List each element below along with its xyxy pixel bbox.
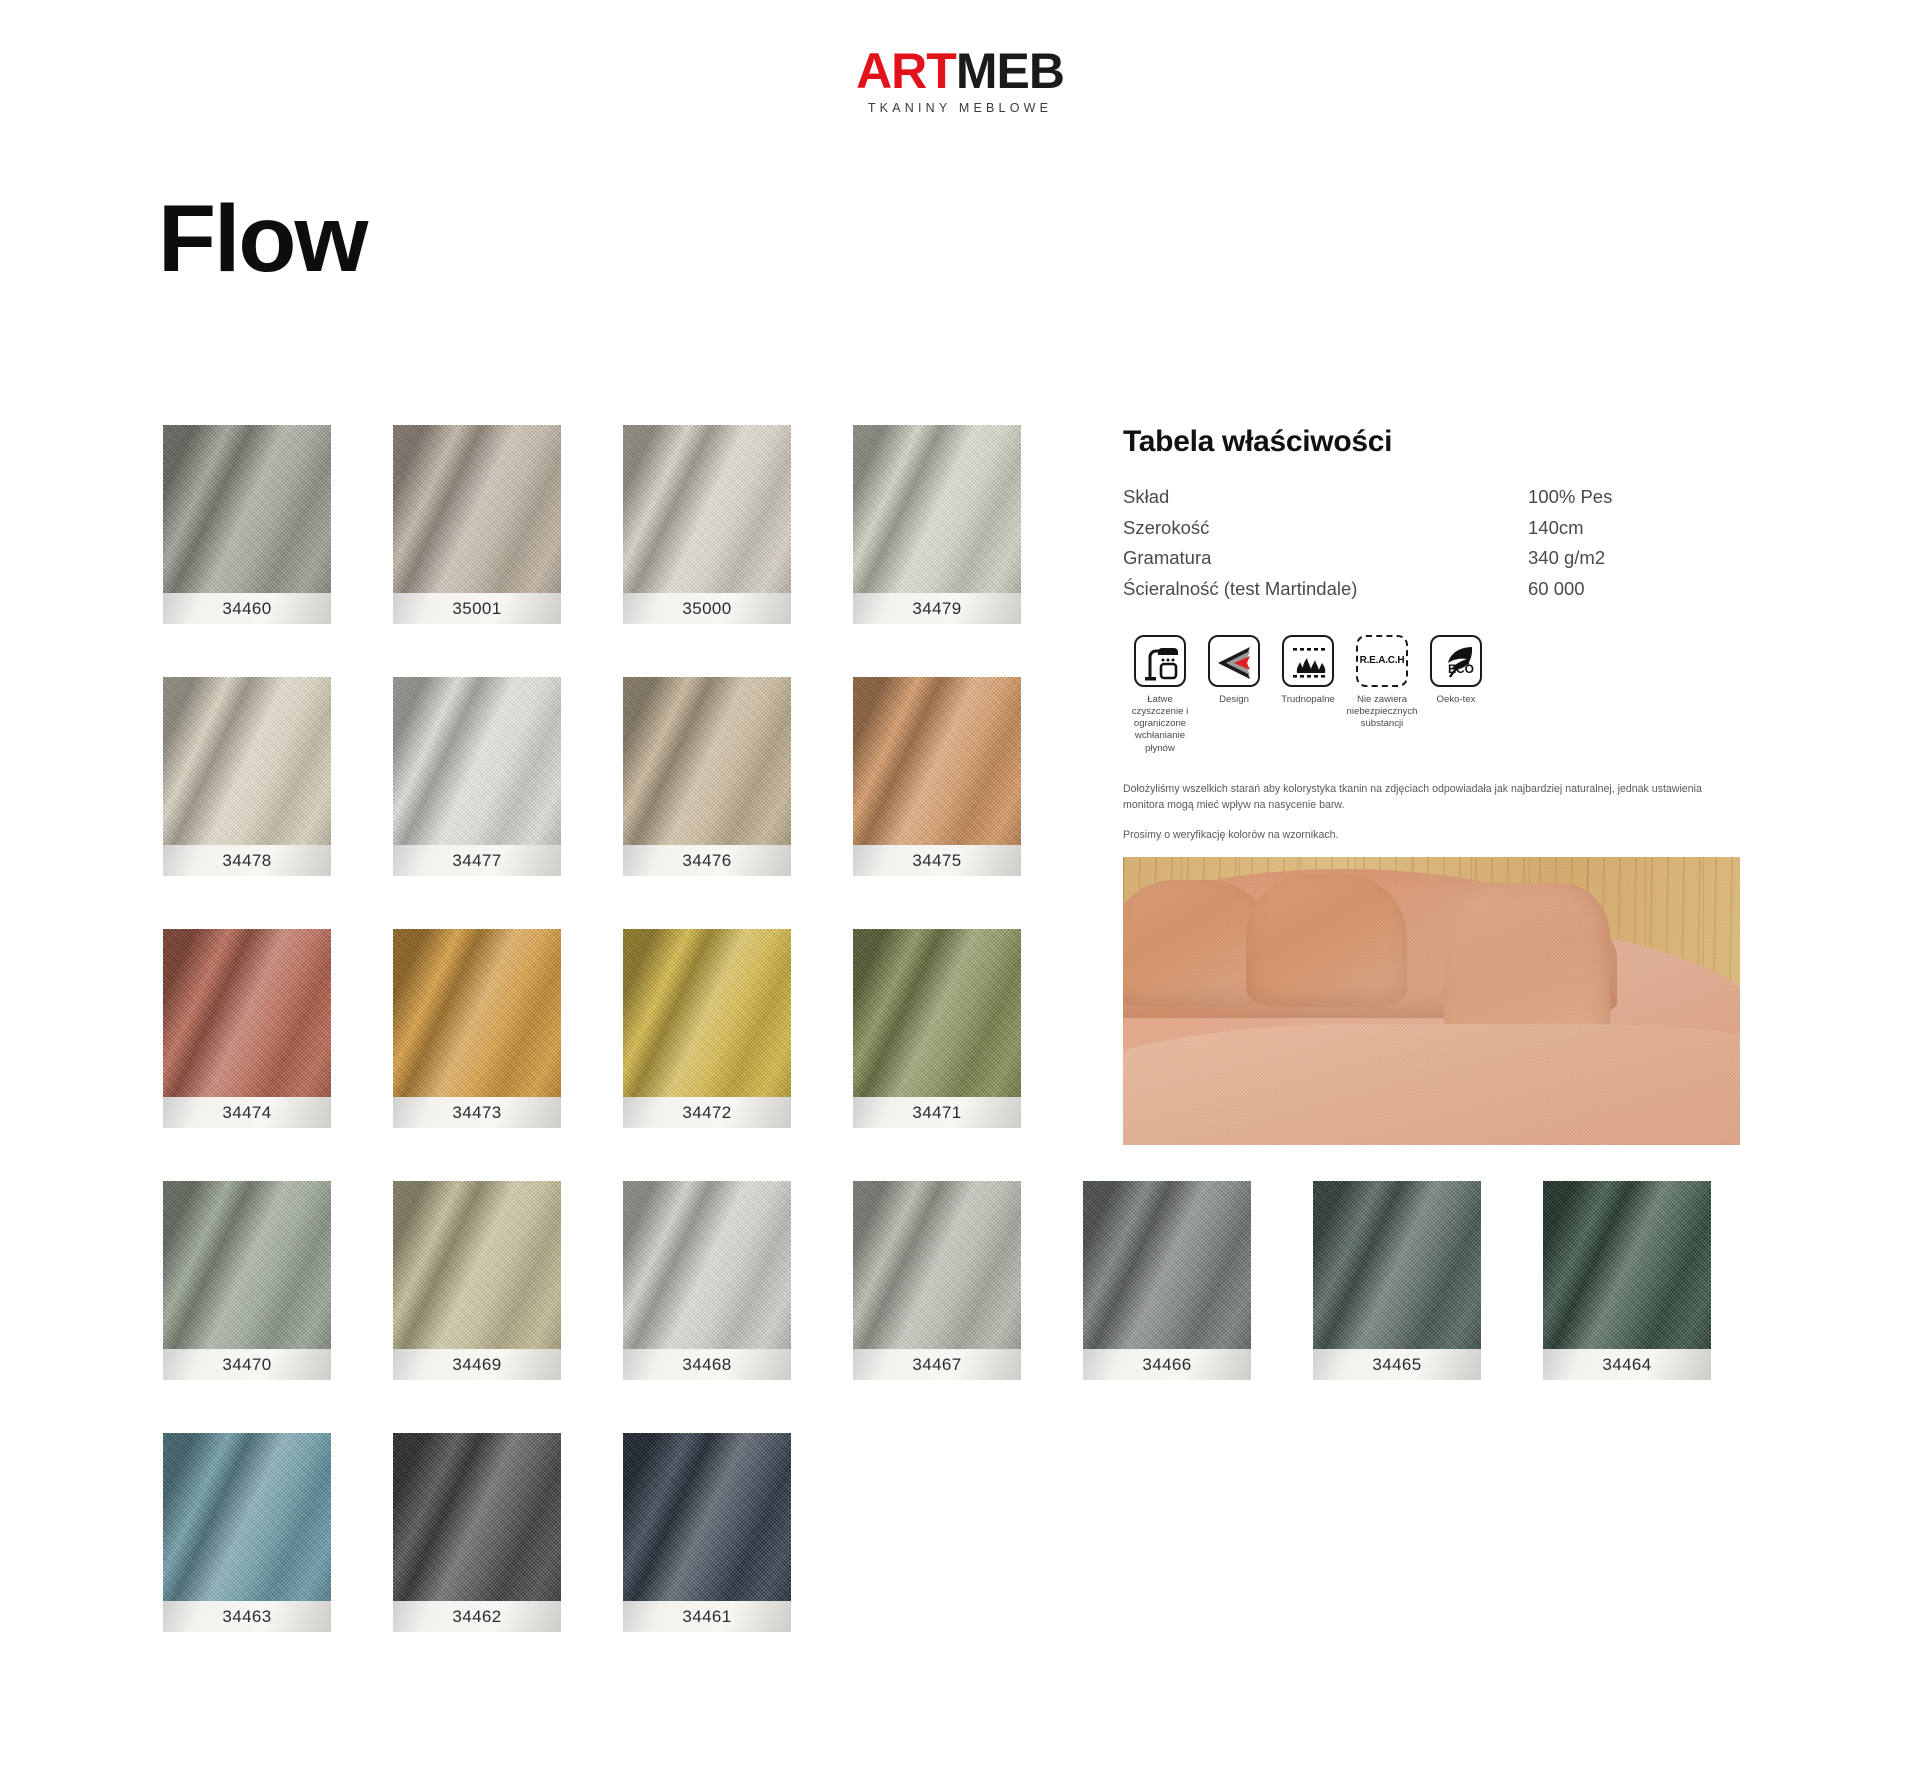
fabric-swatch[interactable]: 34475 xyxy=(853,677,1021,876)
swatch-row: 34470344693446834467344663446534464 xyxy=(163,1181,1723,1380)
reach-icon-text: R.E.A.C.H xyxy=(1358,637,1406,685)
fabric-code: 34460 xyxy=(222,599,271,619)
fabric-swatch[interactable]: 34468 xyxy=(623,1181,791,1380)
fabric-swatch-image xyxy=(393,929,561,1097)
fabric-swatch[interactable]: 35001 xyxy=(393,425,561,624)
fabric-code: 34464 xyxy=(1602,1355,1651,1375)
fabric-weave-texture xyxy=(163,677,331,845)
fabric-weave-texture xyxy=(163,425,331,593)
fabric-code: 34479 xyxy=(912,599,961,619)
fabric-swatch-image xyxy=(393,1181,561,1349)
fabric-swatch[interactable]: 34461 xyxy=(623,1433,791,1632)
fabric-weave-texture xyxy=(393,1433,561,1601)
fabric-swatch-label: 34463 xyxy=(163,1601,331,1632)
fabric-swatch[interactable]: 34465 xyxy=(1313,1181,1481,1380)
fabric-swatch-label: 34477 xyxy=(393,845,561,876)
fabric-swatch-label: 34475 xyxy=(853,845,1021,876)
sofa-cushion-mid xyxy=(1246,874,1406,1006)
fabric-weave-texture xyxy=(853,677,1021,845)
fabric-code: 34463 xyxy=(222,1607,271,1627)
fabric-swatch-image xyxy=(623,425,791,593)
fabric-weave-texture xyxy=(853,425,1021,593)
certification-icon-caption: Trudnopalne xyxy=(1271,694,1345,706)
property-label: Gramatura xyxy=(1123,543,1528,574)
fabric-swatch[interactable]: 34460 xyxy=(163,425,331,624)
fabric-swatch-label: 34472 xyxy=(623,1097,791,1128)
certification-icon-cell: Łatwe czyszczenie i ograniczone wchłania… xyxy=(1123,635,1197,755)
fabric-swatch-label: 34479 xyxy=(853,593,1021,624)
fabric-swatch-image xyxy=(623,1181,791,1349)
fabric-code: 34475 xyxy=(912,851,961,871)
fabric-weave-texture xyxy=(393,929,561,1097)
properties-table: Skład100% PesSzerokość140cmGramatura340 … xyxy=(1123,482,1743,605)
certification-icon-cell: ECOOeko-tex xyxy=(1419,635,1493,755)
fabric-swatch[interactable]: 35000 xyxy=(623,425,791,624)
fabric-swatch-image xyxy=(623,929,791,1097)
fabric-swatch[interactable]: 34479 xyxy=(853,425,1021,624)
fabric-swatch-image xyxy=(853,677,1021,845)
property-value: 100% Pes xyxy=(1528,482,1743,513)
certification-icon-caption: Nie zawiera niebezpiecznych substancji xyxy=(1345,694,1419,731)
certification-icon-cell: Design xyxy=(1197,635,1271,755)
property-value: 340 g/m2 xyxy=(1528,543,1743,574)
property-label: Skład xyxy=(1123,482,1528,513)
fabric-code: 34466 xyxy=(1142,1355,1191,1375)
fabric-code: 34476 xyxy=(682,851,731,871)
fabric-swatch-label: 34461 xyxy=(623,1601,791,1632)
fabric-code: 34472 xyxy=(682,1103,731,1123)
fabric-code: 34468 xyxy=(682,1355,731,1375)
fabric-swatch-label: 34460 xyxy=(163,593,331,624)
fabric-weave-texture xyxy=(163,1181,331,1349)
fabric-swatch-image xyxy=(853,1181,1021,1349)
fabric-swatch[interactable]: 34462 xyxy=(393,1433,561,1632)
property-value: 140cm xyxy=(1528,513,1743,544)
fabric-code: 34471 xyxy=(912,1103,961,1123)
fabric-swatch-image xyxy=(393,1433,561,1601)
property-row: Ścieralność (test Martindale)60 000 xyxy=(1123,574,1743,605)
svg-text:ECO: ECO xyxy=(1448,662,1474,676)
fabric-swatch[interactable]: 34471 xyxy=(853,929,1021,1128)
fabric-weave-texture xyxy=(393,425,561,593)
property-row: Gramatura340 g/m2 xyxy=(1123,543,1743,574)
fabric-swatch[interactable]: 34473 xyxy=(393,929,561,1128)
fabric-swatch-image xyxy=(163,929,331,1097)
fabric-weave-texture xyxy=(393,1181,561,1349)
certification-icon-caption: Design xyxy=(1197,694,1271,706)
design-icon xyxy=(1208,635,1260,687)
fabric-swatch-image xyxy=(163,1433,331,1601)
fabric-weave-texture xyxy=(1543,1181,1711,1349)
page-title: Flow xyxy=(158,192,366,287)
fabric-swatch-label: 34462 xyxy=(393,1601,561,1632)
disclaimer-text: Dołożyliśmy wszelkich starań aby kolorys… xyxy=(1123,781,1738,843)
fabric-swatch[interactable]: 34464 xyxy=(1543,1181,1711,1380)
logo-tagline: TKANINY MEBLOWE xyxy=(0,101,1920,115)
fabric-weave-texture xyxy=(163,1433,331,1601)
catalog-page: ARTMEB TKANINY MEBLOWE Flow 344603500135… xyxy=(0,0,1920,1768)
fabric-swatch-image xyxy=(853,425,1021,593)
fabric-swatch-image xyxy=(1543,1181,1711,1349)
fabric-code: 34470 xyxy=(222,1355,271,1375)
fabric-swatch-label: 34469 xyxy=(393,1349,561,1380)
fabric-code: 34465 xyxy=(1372,1355,1421,1375)
brand-logo: ARTMEB TKANINY MEBLOWE xyxy=(0,46,1920,115)
swatch-row: 344633446234461 xyxy=(163,1433,1723,1632)
fabric-code: 34467 xyxy=(912,1355,961,1375)
fabric-swatch[interactable]: 34466 xyxy=(1083,1181,1251,1380)
properties-heading: Tabela właściwości xyxy=(1123,425,1743,459)
fabric-swatch[interactable]: 34474 xyxy=(163,929,331,1128)
fabric-swatch-label: 34468 xyxy=(623,1349,791,1380)
fabric-swatch-label: 34465 xyxy=(1313,1349,1481,1380)
property-row: Skład100% Pes xyxy=(1123,482,1743,513)
fabric-weave-texture xyxy=(1313,1181,1481,1349)
oeko-tex-icon: ECO xyxy=(1430,635,1482,687)
fabric-code: 34461 xyxy=(682,1607,731,1627)
property-label: Ścieralność (test Martindale) xyxy=(1123,574,1528,605)
fabric-swatch[interactable]: 34478 xyxy=(163,677,331,876)
fabric-swatch-label: 34471 xyxy=(853,1097,1021,1128)
fabric-weave-texture xyxy=(623,929,791,1097)
fabric-weave-texture xyxy=(623,1181,791,1349)
fabric-code: 34477 xyxy=(452,851,501,871)
fabric-swatch-image xyxy=(163,425,331,593)
sofa-photo xyxy=(1123,857,1740,1145)
fabric-swatch-image xyxy=(623,677,791,845)
fabric-swatch-label: 34467 xyxy=(853,1349,1021,1380)
fabric-swatch[interactable]: 34477 xyxy=(393,677,561,876)
fabric-swatch-image xyxy=(623,1433,791,1601)
fabric-swatch-label: 34470 xyxy=(163,1349,331,1380)
fabric-code: 35001 xyxy=(452,599,501,619)
logo-art-text: ART xyxy=(856,43,956,99)
fabric-code: 34462 xyxy=(452,1607,501,1627)
fabric-code: 34473 xyxy=(452,1103,501,1123)
fabric-swatch[interactable]: 34476 xyxy=(623,677,791,876)
fabric-swatch-image xyxy=(163,1181,331,1349)
fabric-swatch-image xyxy=(393,677,561,845)
fabric-swatch[interactable]: 34472 xyxy=(623,929,791,1128)
disclaimer-paragraph-1: Dołożyliśmy wszelkich starań aby kolorys… xyxy=(1123,781,1738,814)
fabric-swatch-image xyxy=(1313,1181,1481,1349)
fabric-weave-texture xyxy=(1083,1181,1251,1349)
fabric-code: 34469 xyxy=(452,1355,501,1375)
fabric-swatch[interactable]: 34463 xyxy=(163,1433,331,1632)
fabric-swatch-label: 34464 xyxy=(1543,1349,1711,1380)
properties-panel: Tabela właściwości Skład100% PesSzerokoś… xyxy=(1123,425,1743,1145)
fabric-weave-texture xyxy=(623,425,791,593)
fabric-swatch-label: 34474 xyxy=(163,1097,331,1128)
fabric-code: 34478 xyxy=(222,851,271,871)
certification-icon-cell: R.E.A.C.HNie zawiera niebezpiecznych sub… xyxy=(1345,635,1419,755)
certification-icon-caption: Oeko-tex xyxy=(1419,694,1493,706)
property-value: 60 000 xyxy=(1528,574,1743,605)
flame-retardant-icon xyxy=(1282,635,1334,687)
fabric-code: 34474 xyxy=(222,1103,271,1123)
fabric-weave-texture xyxy=(623,1433,791,1601)
logo-meb-text: MEB xyxy=(956,43,1064,99)
property-label: Szerokość xyxy=(1123,513,1528,544)
fabric-swatch-label: 34478 xyxy=(163,845,331,876)
fabric-swatch-image xyxy=(853,929,1021,1097)
certification-icon-caption: Łatwe czyszczenie i ograniczone wchłania… xyxy=(1123,694,1197,755)
fabric-weave-texture xyxy=(853,1181,1021,1349)
fabric-weave-texture xyxy=(853,929,1021,1097)
fabric-swatch-image xyxy=(393,425,561,593)
fabric-weave-texture xyxy=(163,929,331,1097)
reach-icon: R.E.A.C.H xyxy=(1356,635,1408,687)
property-row: Szerokość140cm xyxy=(1123,513,1743,544)
fabric-swatch-label: 34466 xyxy=(1083,1349,1251,1380)
certification-icon-cell: Trudnopalne xyxy=(1271,635,1345,755)
fabric-swatch[interactable]: 34467 xyxy=(853,1181,1021,1380)
fabric-swatch[interactable]: 34470 xyxy=(163,1181,331,1380)
logo-wordmark: ARTMEB xyxy=(0,46,1920,96)
fabric-swatch-label: 35001 xyxy=(393,593,561,624)
fabric-code: 35000 xyxy=(682,599,731,619)
fabric-swatch-label: 34476 xyxy=(623,845,791,876)
fabric-swatch[interactable]: 34469 xyxy=(393,1181,561,1380)
fabric-swatch-image xyxy=(1083,1181,1251,1349)
sofa-seat xyxy=(1123,1024,1740,1145)
disclaimer-paragraph-2: Prosimy o weryfikację kolorów na wzornik… xyxy=(1123,827,1738,843)
certification-icons: Łatwe czyszczenie i ograniczone wchłania… xyxy=(1123,635,1743,755)
fabric-weave-texture xyxy=(623,677,791,845)
fabric-weave-texture xyxy=(393,677,561,845)
easy-clean-icon xyxy=(1134,635,1186,687)
fabric-swatch-image xyxy=(163,677,331,845)
fabric-swatch-label: 35000 xyxy=(623,593,791,624)
fabric-swatch-label: 34473 xyxy=(393,1097,561,1128)
